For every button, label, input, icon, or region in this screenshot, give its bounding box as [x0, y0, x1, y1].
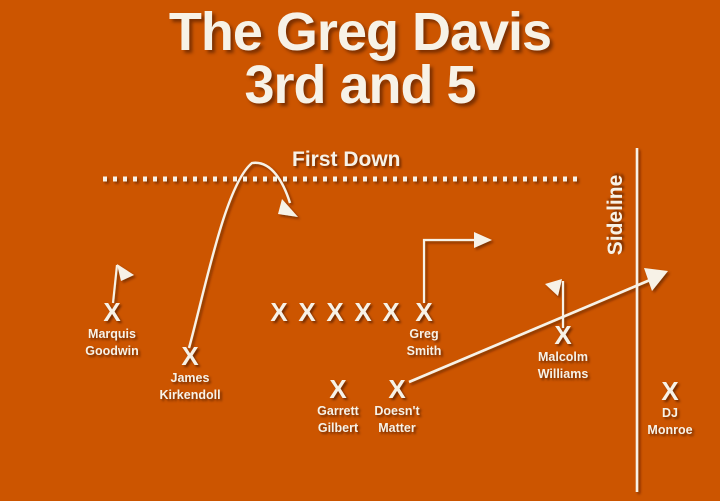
route-marquis-goodwin: [113, 265, 117, 303]
route-greg-smith: [424, 240, 477, 303]
arrowhead-malcolm-williams: [545, 279, 562, 296]
play-diagram-canvas: The Greg Davis 3rd and 5: [0, 0, 720, 501]
arrowhead-greg-smith: [474, 232, 492, 248]
arrowhead-james-kirkendoll: [278, 199, 298, 217]
arrowhead-marquis-goodwin: [117, 264, 134, 281]
arrowhead-doesnt-matter: [644, 268, 668, 291]
route-james-kirkendoll: [189, 163, 290, 348]
route-doesnt-matter: [409, 280, 650, 382]
route-overlay: [0, 0, 720, 501]
